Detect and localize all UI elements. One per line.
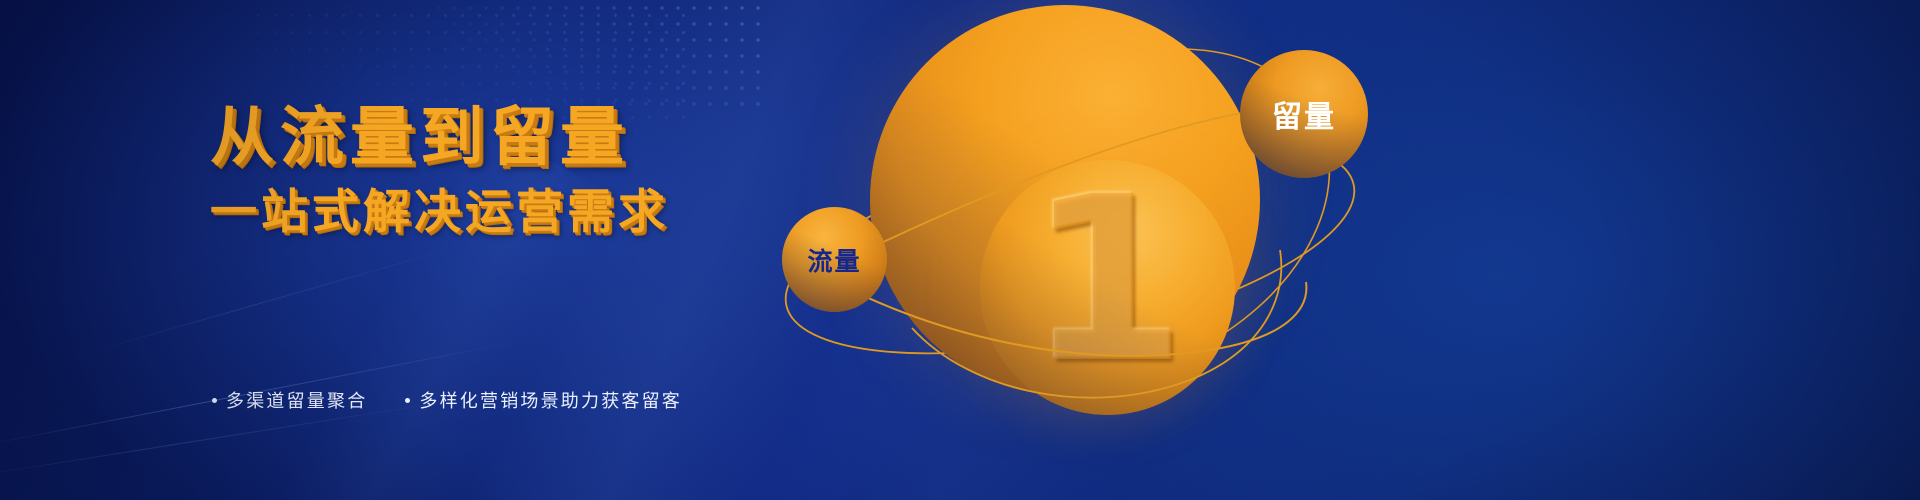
sphere-retention-label: 留量 bbox=[1272, 92, 1336, 136]
sphere-traffic-label: 流量 bbox=[807, 242, 861, 278]
copy-block: 从流量到留量 一站式解决运营需求 bbox=[210, 104, 730, 239]
feature-bullet-list: 多渠道留量聚合 多样化营销场景助力获客留客 bbox=[212, 387, 682, 413]
bullet-dot-icon bbox=[405, 398, 410, 403]
orbit-arc-front-3 bbox=[912, 250, 1281, 398]
dot-grid-texture-2 bbox=[430, 0, 770, 110]
sphere-traffic: 流量 bbox=[782, 207, 887, 312]
hero-illustration: 1 流量 留量 bbox=[740, 0, 1920, 500]
feature-bullet-label: 多渠道留量聚合 bbox=[226, 387, 367, 413]
banner-subheadline: 一站式解决运营需求 bbox=[210, 187, 730, 239]
sphere-retention: 留量 bbox=[1240, 50, 1368, 178]
promo-banner: 从流量到留量 一站式解决运营需求 多渠道留量聚合 多样化营销场景助力获客留客 1 bbox=[0, 0, 1920, 500]
feature-bullet-item: 多样化营销场景助力获客留客 bbox=[405, 387, 682, 413]
feature-bullet-label: 多样化营销场景助力获客留客 bbox=[419, 387, 682, 413]
bullet-dot-icon bbox=[212, 398, 217, 403]
glow-line-3 bbox=[68, 242, 472, 359]
orbit-arc-front-2 bbox=[862, 110, 1260, 252]
feature-bullet-item: 多渠道留量聚合 bbox=[212, 387, 367, 413]
banner-headline: 从流量到留量 bbox=[210, 104, 730, 173]
